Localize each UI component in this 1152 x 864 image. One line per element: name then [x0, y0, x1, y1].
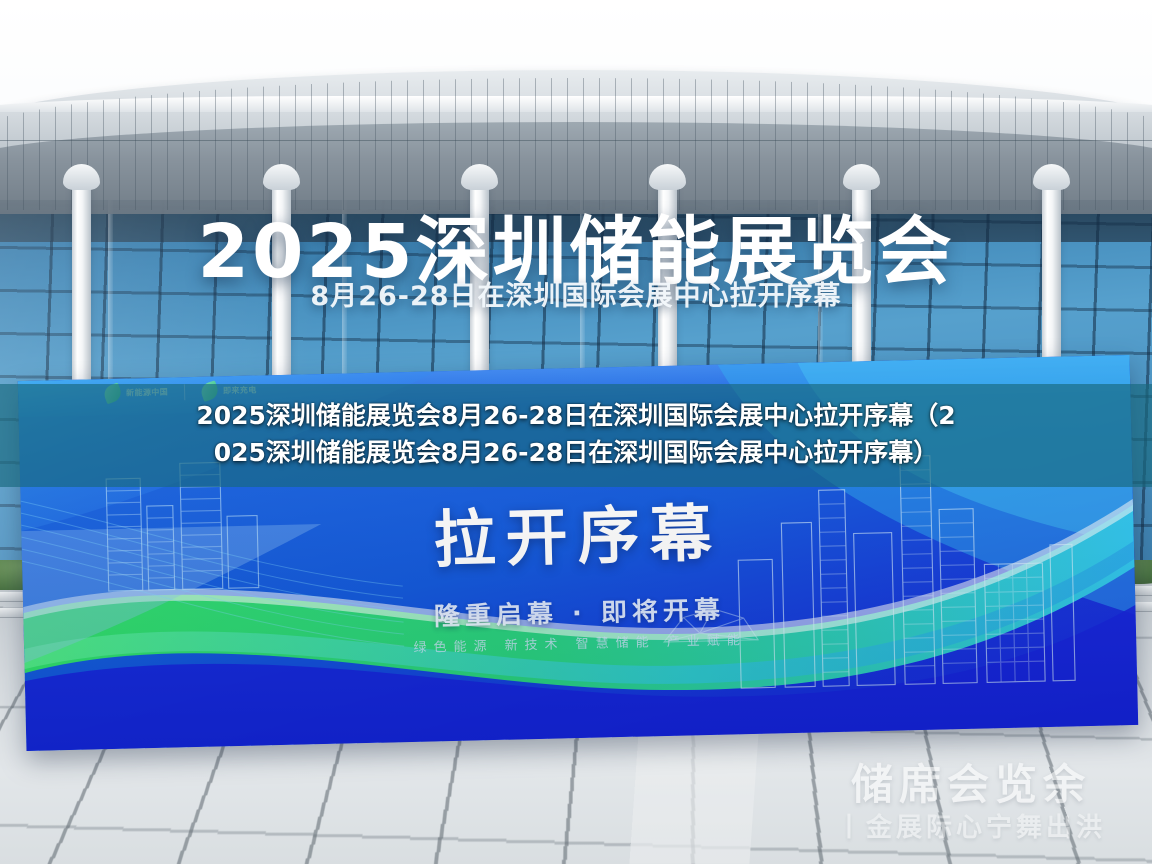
roof-canopy-seam [0, 140, 1152, 141]
watermark-line-2: 丨金展际心宁舞出洪 [836, 807, 1106, 844]
watermark: 储席会览余 丨金展际心宁舞出洪 [836, 762, 1106, 844]
caption-overlay: 2025深圳储能展览会8月26-28日在深圳国际会展中心拉开序幕（2 025深圳… [0, 384, 1152, 487]
screenshot-stage: 2025深圳储能展览会 8月26-28日在深圳国际会展中心拉开序幕 [0, 0, 1152, 864]
watermark-line-1: 储席会览余 [836, 762, 1106, 807]
venue-subtitle: 8月26-28日在深圳国际会展中心拉开序幕 [0, 274, 1152, 313]
caption-line-1: 2025深圳储能展览会8月26-28日在深圳国际会展中心拉开序幕（2 [22, 398, 1130, 435]
caption-line-2: 025深圳储能展览会8月26-28日在深圳国际会展中心拉开序幕） [22, 435, 1130, 472]
roof-canopy-ribs [0, 78, 1152, 210]
